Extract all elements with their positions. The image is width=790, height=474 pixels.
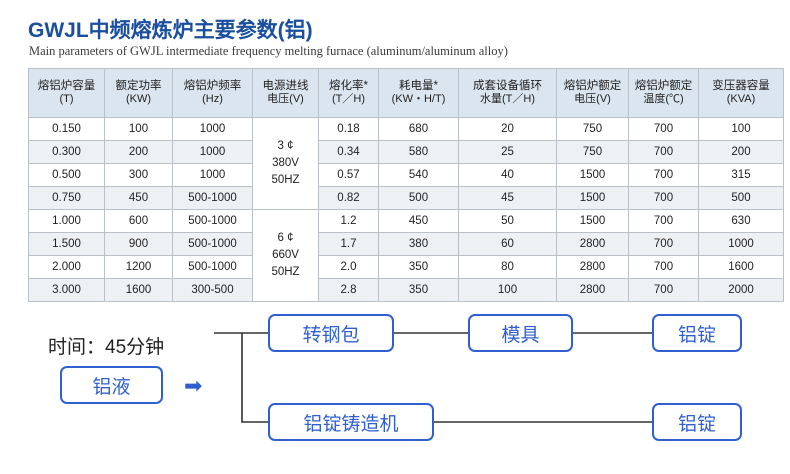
cell-input-voltage: 6 ¢660V50HZ xyxy=(253,210,319,302)
col-melting-rate-line2: (T／H) xyxy=(320,93,377,107)
cell-energy: 680 xyxy=(379,118,459,141)
cell-rated-temp: 700 xyxy=(629,210,699,233)
col-energy: 耗电量* (KW・H/T) xyxy=(379,69,459,118)
parameters-table-container: 熔铝炉容量 (T) 额定功率 (KW) 熔铝炉频率 (Hz) 电源进线 电压(V… xyxy=(28,68,763,302)
flow-node-ingot-casting-machine-label: 铝锭铸造机 xyxy=(303,409,398,436)
cell-frequency: 500-1000 xyxy=(173,187,253,210)
cell-melting-rate: 1.7 xyxy=(319,233,379,256)
col-frequency-line1: 熔铝炉频率 xyxy=(184,80,242,92)
flow-node-ingot-casting-machine[interactable]: 铝锭铸造机 xyxy=(268,403,434,441)
cell-transformer: 315 xyxy=(699,164,784,187)
cell-energy: 540 xyxy=(379,164,459,187)
flow-node-ladle-label: 转钢包 xyxy=(302,320,359,347)
cell-rated-temp: 700 xyxy=(629,141,699,164)
cell-frequency: 1000 xyxy=(173,164,253,187)
col-power-line2: (KW) xyxy=(106,93,171,107)
cell-capacity: 1.000 xyxy=(29,210,105,233)
table-row: 0.750450500-10000.82500451500700500 xyxy=(29,187,784,210)
col-water: 成套设备循环 水量(T／H) xyxy=(459,69,557,118)
cell-capacity: 2.000 xyxy=(29,256,105,279)
cell-melting-rate: 1.2 xyxy=(319,210,379,233)
cell-capacity: 0.300 xyxy=(29,141,105,164)
cell-energy: 350 xyxy=(379,256,459,279)
cell-water: 80 xyxy=(459,256,557,279)
cell-frequency: 500-1000 xyxy=(173,233,253,256)
cell-rated-voltage: 1500 xyxy=(557,187,629,210)
cell-power: 900 xyxy=(105,233,173,256)
cell-melting-rate: 0.82 xyxy=(319,187,379,210)
cell-rated-temp: 700 xyxy=(629,164,699,187)
flow-node-mould-label: 模具 xyxy=(501,320,539,347)
process-flow-diagram: 时间：45分钟 ➡ 铝液 转钢包 模具 铝锭 铝锭铸造机 铝锭 xyxy=(0,296,790,474)
col-rated-temp-line2: 温度(℃) xyxy=(630,93,697,107)
cell-rated-voltage: 1500 xyxy=(557,210,629,233)
table-body: 0.15010010003 ¢380V50HZ0.186802075070010… xyxy=(29,118,784,302)
flow-node-ingot-bottom[interactable]: 铝锭 xyxy=(652,403,742,441)
flow-time-label: 时间：45分钟 xyxy=(48,332,164,359)
col-rated-voltage-line2: 电压(V) xyxy=(558,93,627,107)
cell-melting-rate: 2.0 xyxy=(319,256,379,279)
col-rated-temp-line1: 熔铝炉额定 xyxy=(635,80,693,92)
cell-rated-temp: 700 xyxy=(629,118,699,141)
table-row: 2.0001200500-10002.03508028007001600 xyxy=(29,256,784,279)
cell-melting-rate: 0.34 xyxy=(319,141,379,164)
cell-water: 20 xyxy=(459,118,557,141)
cell-frequency: 500-1000 xyxy=(173,210,253,233)
table-row: 0.30020010000.3458025750700200 xyxy=(29,141,784,164)
cell-energy: 500 xyxy=(379,187,459,210)
flow-node-aluminum-liquid-label: 铝液 xyxy=(92,372,130,399)
table-row: 1.500900500-10001.73806028007001000 xyxy=(29,233,784,256)
cell-water: 50 xyxy=(459,210,557,233)
col-transformer-line2: (KVA) xyxy=(700,93,782,107)
cell-water: 40 xyxy=(459,164,557,187)
flow-node-ingot-top-label: 铝锭 xyxy=(678,320,716,347)
col-capacity: 熔铝炉容量 (T) xyxy=(29,69,105,118)
flow-node-mould[interactable]: 模具 xyxy=(468,314,573,352)
col-energy-line1: 耗电量* xyxy=(399,80,438,92)
col-rated-temp: 熔铝炉额定 温度(℃) xyxy=(629,69,699,118)
cell-transformer: 1000 xyxy=(699,233,784,256)
cell-energy: 580 xyxy=(379,141,459,164)
col-power: 额定功率 (KW) xyxy=(105,69,173,118)
cell-frequency: 500-1000 xyxy=(173,256,253,279)
col-transformer: 变压器容量 (KVA) xyxy=(699,69,784,118)
cell-frequency: 1000 xyxy=(173,141,253,164)
col-capacity-line1: 熔铝炉容量 xyxy=(38,80,96,92)
cell-capacity: 0.750 xyxy=(29,187,105,210)
cell-melting-rate: 0.57 xyxy=(319,164,379,187)
cell-input-voltage: 3 ¢380V50HZ xyxy=(253,118,319,210)
cell-transformer: 100 xyxy=(699,118,784,141)
parameters-table: 熔铝炉容量 (T) 额定功率 (KW) 熔铝炉频率 (Hz) 电源进线 电压(V… xyxy=(28,68,784,302)
cell-frequency: 1000 xyxy=(173,118,253,141)
cell-power: 100 xyxy=(105,118,173,141)
col-transformer-line1: 变压器容量 xyxy=(712,80,770,92)
cell-water: 25 xyxy=(459,141,557,164)
flow-node-aluminum-liquid[interactable]: 铝液 xyxy=(60,366,163,404)
cell-transformer: 630 xyxy=(699,210,784,233)
cell-power: 600 xyxy=(105,210,173,233)
cell-water: 60 xyxy=(459,233,557,256)
col-energy-line2: (KW・H/T) xyxy=(380,93,457,107)
col-melting-rate-line1: 熔化率* xyxy=(329,80,368,92)
cell-rated-voltage: 750 xyxy=(557,141,629,164)
cell-transformer: 1600 xyxy=(699,256,784,279)
col-input-voltage: 电源进线 电压(V) xyxy=(253,69,319,118)
col-water-line1: 成套设备循环 xyxy=(473,80,542,92)
flow-node-ingot-top[interactable]: 铝锭 xyxy=(652,314,742,352)
col-rated-voltage: 熔铝炉额定 电压(V) xyxy=(557,69,629,118)
cell-power: 1200 xyxy=(105,256,173,279)
col-rated-voltage-line1: 熔铝炉额定 xyxy=(564,80,622,92)
cell-transformer: 500 xyxy=(699,187,784,210)
page-subtitle: Main parameters of GWJL intermediate fre… xyxy=(29,44,508,59)
cell-water: 45 xyxy=(459,187,557,210)
cell-rated-temp: 700 xyxy=(629,233,699,256)
table-row: 0.15010010003 ¢380V50HZ0.186802075070010… xyxy=(29,118,784,141)
cell-capacity: 1.500 xyxy=(29,233,105,256)
col-frequency-line2: (Hz) xyxy=(174,93,251,107)
col-capacity-line2: (T) xyxy=(30,93,103,107)
cell-transformer: 200 xyxy=(699,141,784,164)
table-header: 熔铝炉容量 (T) 额定功率 (KW) 熔铝炉频率 (Hz) 电源进线 电压(V… xyxy=(29,69,784,118)
flow-node-ladle[interactable]: 转钢包 xyxy=(268,314,394,352)
cell-power: 300 xyxy=(105,164,173,187)
cell-rated-temp: 700 xyxy=(629,256,699,279)
cell-power: 450 xyxy=(105,187,173,210)
page-title: GWJL中频熔炼炉主要参数(铝) xyxy=(28,14,313,44)
cell-melting-rate: 0.18 xyxy=(319,118,379,141)
cell-rated-voltage: 2800 xyxy=(557,233,629,256)
cell-capacity: 0.500 xyxy=(29,164,105,187)
table-row: 1.000600500-10006 ¢660V50HZ1.24505015007… xyxy=(29,210,784,233)
col-frequency: 熔铝炉频率 (Hz) xyxy=(173,69,253,118)
cell-rated-voltage: 2800 xyxy=(557,256,629,279)
cell-power: 200 xyxy=(105,141,173,164)
col-melting-rate: 熔化率* (T／H) xyxy=(319,69,379,118)
cell-rated-temp: 700 xyxy=(629,187,699,210)
cell-rated-voltage: 1500 xyxy=(557,164,629,187)
cell-rated-voltage: 750 xyxy=(557,118,629,141)
table-row: 0.50030010000.57540401500700315 xyxy=(29,164,784,187)
cell-energy: 450 xyxy=(379,210,459,233)
table-header-row: 熔铝炉容量 (T) 额定功率 (KW) 熔铝炉频率 (Hz) 电源进线 电压(V… xyxy=(29,69,784,118)
col-input-voltage-line2: 电压(V) xyxy=(254,93,317,107)
cell-energy: 380 xyxy=(379,233,459,256)
col-power-line1: 额定功率 xyxy=(116,80,162,92)
flow-node-ingot-bottom-label: 铝锭 xyxy=(678,409,716,436)
cell-capacity: 0.150 xyxy=(29,118,105,141)
col-input-voltage-line1: 电源进线 xyxy=(263,80,309,92)
right-arrow-icon: ➡ xyxy=(184,376,210,396)
col-water-line2: 水量(T／H) xyxy=(460,93,555,107)
page-root: GWJL中频熔炼炉主要参数(铝) Main parameters of GWJL… xyxy=(0,0,790,474)
